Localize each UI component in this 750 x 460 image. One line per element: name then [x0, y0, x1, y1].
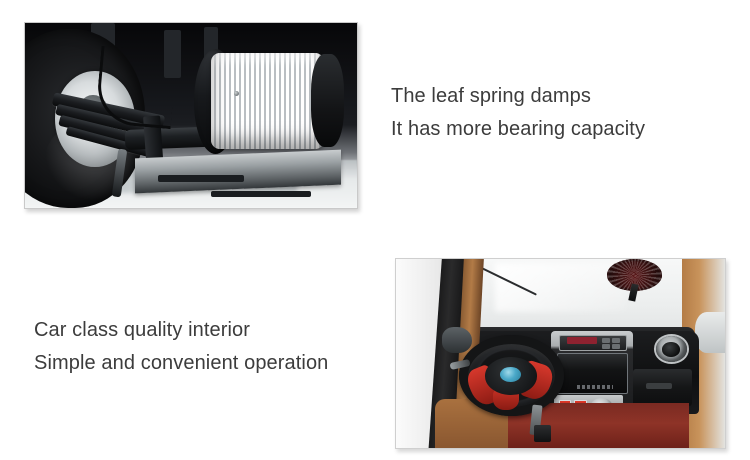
key-fob	[534, 425, 550, 442]
interior-scene	[396, 259, 725, 448]
promo-banner: The leaf spring damps It has more bearin…	[0, 0, 750, 460]
suspension-scene	[25, 23, 357, 208]
suspension-caption-line-2: It has more bearing capacity	[391, 113, 645, 146]
side-mirror	[442, 327, 472, 353]
radio-button-2	[612, 338, 620, 343]
motor-end-cap-right	[311, 54, 344, 147]
leaf-spring-suspension-photo	[24, 22, 358, 209]
glovebox-handle	[646, 383, 672, 389]
brand-emblem-icon	[500, 367, 522, 382]
windshield-glare	[495, 263, 627, 312]
electric-drive-motor	[211, 53, 324, 149]
interior-caption: Car class quality interior Simple and co…	[34, 314, 328, 380]
media-display-label	[577, 385, 613, 389]
air-vent-core	[662, 342, 680, 356]
interior-caption-line-2: Simple and convenient operation	[34, 347, 328, 380]
frame-crossbar-1	[158, 175, 244, 182]
radio-button-3	[602, 344, 610, 349]
right-window	[695, 312, 725, 354]
radio-button-1	[602, 338, 610, 343]
suspension-caption-line-1: The leaf spring damps	[391, 80, 645, 113]
interior-caption-line-1: Car class quality interior	[34, 314, 328, 347]
car-interior-photo	[395, 258, 726, 449]
radio-button-4	[612, 344, 620, 349]
suspension-caption: The leaf spring damps It has more bearin…	[391, 80, 645, 146]
radio-screen	[567, 337, 597, 344]
frame-crossbar-2	[211, 191, 311, 197]
